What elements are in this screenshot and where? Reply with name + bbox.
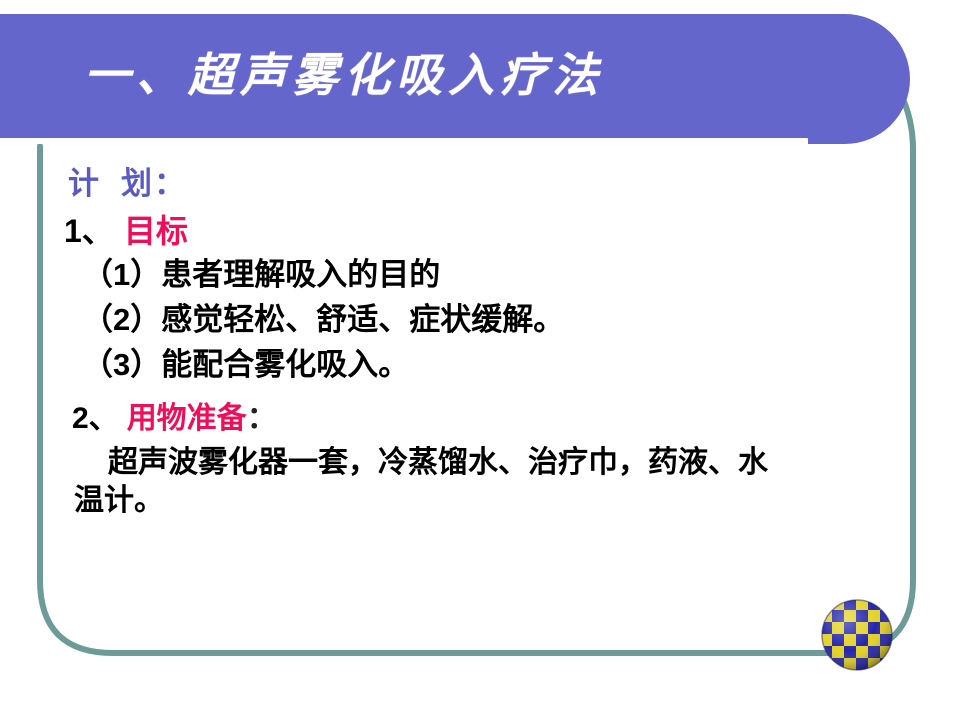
list-item-heading-2: 2、用物准备： — [72, 404, 890, 434]
sub-item-1-3: （3）能配合雾化吸入。 — [82, 349, 890, 380]
plan-label-word1: 计 — [68, 166, 101, 201]
item-number-2: 2、 — [72, 402, 119, 435]
item-2-paragraph-text: 超声波雾化器一套，冷蒸馏水、治疗巾，药液、水温计。 — [74, 446, 768, 517]
item-number-1: 1、 — [64, 213, 114, 249]
slide-body: 计划： 1、目标 （1）患者理解吸入的目的 （2）感觉轻松、舒适、症状缓解。 （… — [60, 168, 890, 521]
item-2-paragraph: 超声波雾化器一套，冷蒸馏水、治疗巾，药液、水温计。 — [74, 444, 774, 521]
list-item-heading-1: 1、目标 — [64, 215, 890, 247]
plan-label: 计划： — [68, 168, 890, 199]
title-underline — [0, 138, 808, 144]
sub-item-1-2: （2）感觉轻松、舒适、症状缓解。 — [82, 304, 890, 335]
item-heading-2: 用物准备 — [127, 402, 247, 435]
plan-label-word2: 划： — [121, 166, 187, 201]
sub-item-1-1: （1）患者理解吸入的目的 — [82, 259, 890, 290]
item-heading-1: 目标 — [124, 213, 188, 249]
item-heading-2-colon: ： — [247, 402, 277, 435]
page-title: 一、超声雾化吸入疗法 — [84, 52, 604, 98]
slide-canvas: 一、超声雾化吸入疗法 计划： 1、目标 （1）患者理解吸入的目的 （2）感觉轻松… — [0, 0, 960, 720]
checkered-sphere-icon — [820, 598, 894, 672]
